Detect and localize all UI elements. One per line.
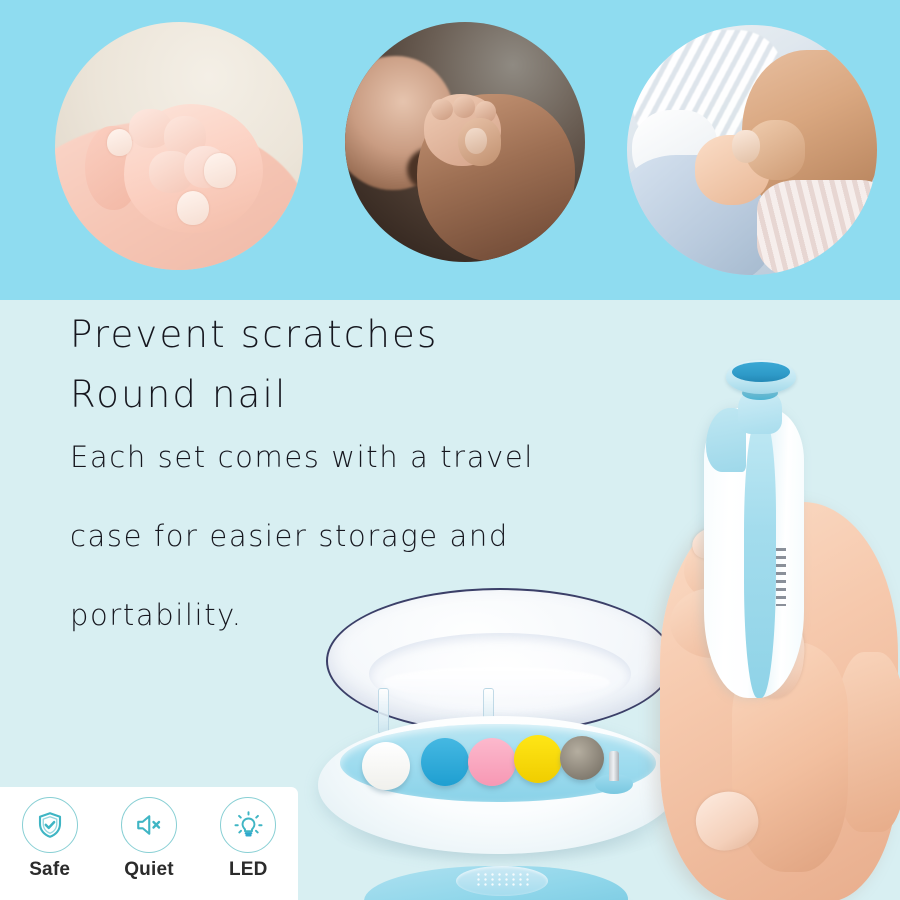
disc-face-yellow: [514, 735, 562, 783]
body-line-2: case for easier storage and: [70, 522, 615, 551]
nail-highlight-1: [204, 153, 236, 188]
photo-baby-fingers-held: [627, 25, 877, 275]
badge-quiet[interactable]: Quiet: [106, 797, 192, 881]
nail-highlight-3: [107, 129, 132, 156]
photo-baby-hand-in-adult-hand: [55, 22, 303, 270]
badge-label-quiet: Quiet: [106, 859, 192, 881]
badge-ring-quiet: [121, 797, 177, 853]
thumb-nail-highlight: [465, 128, 487, 154]
shield-check-icon: [35, 810, 65, 840]
badge-ring-led: [220, 797, 276, 853]
lid-glint: [383, 667, 610, 698]
disc-blue: [421, 738, 469, 786]
hero-banner: [0, 0, 900, 300]
headline-round-nail: Round nail: [70, 376, 615, 413]
trimmer-teal-grip-strip: [744, 420, 776, 698]
disc-white: [362, 742, 410, 790]
trimmer-blue-grinding-disc: [732, 362, 790, 382]
body-line-1: Each set comes with a travel: [70, 443, 615, 472]
disc-pink: [468, 738, 516, 786]
badge-led[interactable]: LED: [205, 797, 291, 881]
nail-highlight-2: [177, 191, 209, 226]
disc-sand: [560, 736, 604, 780]
baby-nail-highlight-3: [732, 130, 760, 163]
cone-attachment: [609, 751, 619, 781]
headline-prevent-scratches: Prevent scratches: [70, 316, 615, 353]
product-infographic: Prevent scratches Round nail Each set co…: [0, 0, 900, 900]
feature-badge-panel: Safe Quiet LED: [0, 787, 298, 900]
speaker-mute-icon: [134, 810, 164, 840]
badge-ring-safe: [22, 797, 78, 853]
lid-hinge-left: [378, 688, 389, 734]
disc-face-pink: [468, 738, 516, 786]
badge-safe[interactable]: Safe: [7, 797, 93, 881]
photo-newborn-held-by-parent: [345, 22, 585, 262]
trimmer-text-marking: [776, 548, 786, 606]
case-base: [318, 716, 678, 854]
disc-yellow: [514, 735, 562, 783]
disc-face-white: [362, 742, 410, 790]
stored-trimmer-grip-dots: [475, 872, 531, 887]
disc-face-sand: [560, 736, 604, 780]
badge-label-safe: Safe: [7, 859, 93, 881]
lightbulb-icon: [233, 810, 264, 841]
knuckle-2: [453, 96, 475, 118]
hand-holding-trimmer-photo: [640, 352, 900, 900]
badge-label-led: LED: [205, 859, 291, 881]
disc-face-blue: [421, 738, 469, 786]
travel-case-product-photo: [318, 588, 678, 888]
nail-trimmer-device: [692, 360, 820, 700]
adult-sleeve-shape: [757, 180, 877, 275]
